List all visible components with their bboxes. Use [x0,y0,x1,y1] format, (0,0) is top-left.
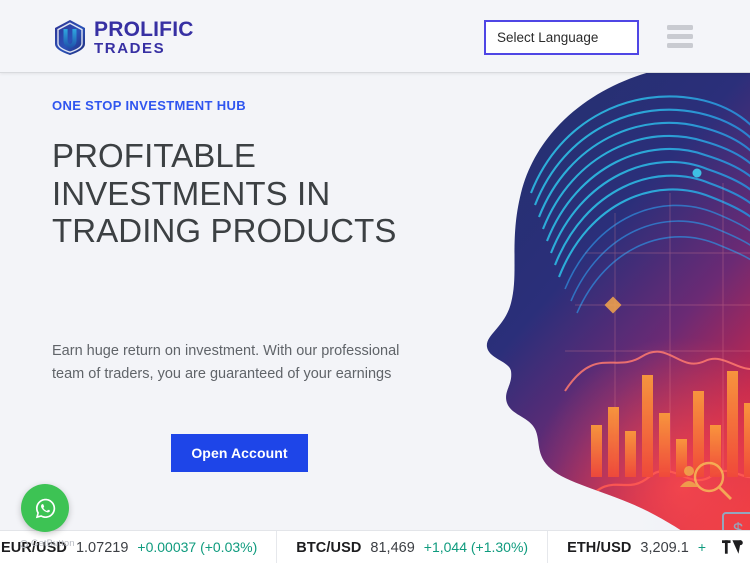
ticker-change: +0.00037 (+0.03%) [137,531,257,563]
language-selector[interactable]: Select Language [484,20,639,55]
ticker-price: 81,469 [370,532,414,563]
hamburger-bar-2 [667,34,693,39]
tradingview-glyph [722,540,744,554]
ticker-price: 1.07219 [76,532,128,563]
whatsapp-icon [32,495,59,522]
language-selector-label: Select Language [497,30,598,45]
ticker-price: 3,209.1 [640,532,688,563]
ticker-item-eurusd[interactable]: EUR/USD 1.07219 +0.00037 (+0.03%) [0,531,277,563]
hamburger-bar-1 [667,25,693,30]
hero-illustration-digital-head: $ [465,73,750,530]
ticker-item-btcusd[interactable]: BTC/USD 81,469 +1,044 (+1.30%) [277,531,548,563]
hamburger-menu-icon[interactable] [667,25,693,48]
hamburger-bar-3 [667,43,693,48]
ticker-change: +1,044 (+1.30%) [424,531,528,563]
hero-eyebrow: ONE STOP INVESTMENT HUB [52,98,482,113]
site-header: PROLIFIC TRADES Select Language [0,0,750,73]
ticker-symbol: ETH/USD [567,532,631,563]
whatsapp-chat-button[interactable] [21,484,69,532]
ticker-symbol: BTC/USD [296,532,361,563]
brand-logo[interactable]: PROLIFIC TRADES [52,19,194,56]
hero-copy-block: ONE STOP INVESTMENT HUB PROFITABLE INVES… [52,98,482,250]
hero-artwork-svg: $ [465,73,750,530]
brand-wordmark: PROLIFIC TRADES [94,19,194,56]
ticker-change: + [698,531,706,563]
shield-hexagon-logo-icon [52,19,88,56]
ticker-item-ethusd[interactable]: ETH/USD 3,209.1 + [548,531,725,563]
brand-name-secondary: TRADES [94,41,194,56]
tradingview-logo-icon[interactable] [720,537,746,557]
open-account-button[interactable]: Open Account [171,434,308,472]
page-root: PROLIFIC TRADES Select Language [0,0,750,563]
hero-subcopy: Earn huge return on investment. With our… [52,340,432,387]
brand-name-primary: PROLIFIC [94,19,194,40]
ticker-symbol: EUR/USD [1,532,67,563]
hero-headline: PROFITABLE INVESTMENTS IN TRADING PRODUC… [52,137,432,250]
market-ticker-bar[interactable]: EUR/USD 1.07219 +0.00037 (+0.03%) BTC/US… [0,530,750,563]
svg-text:$: $ [733,520,743,530]
hero-section: $ ONE STOP INVESTMENT HUB PROFITABLE INV… [0,73,750,530]
